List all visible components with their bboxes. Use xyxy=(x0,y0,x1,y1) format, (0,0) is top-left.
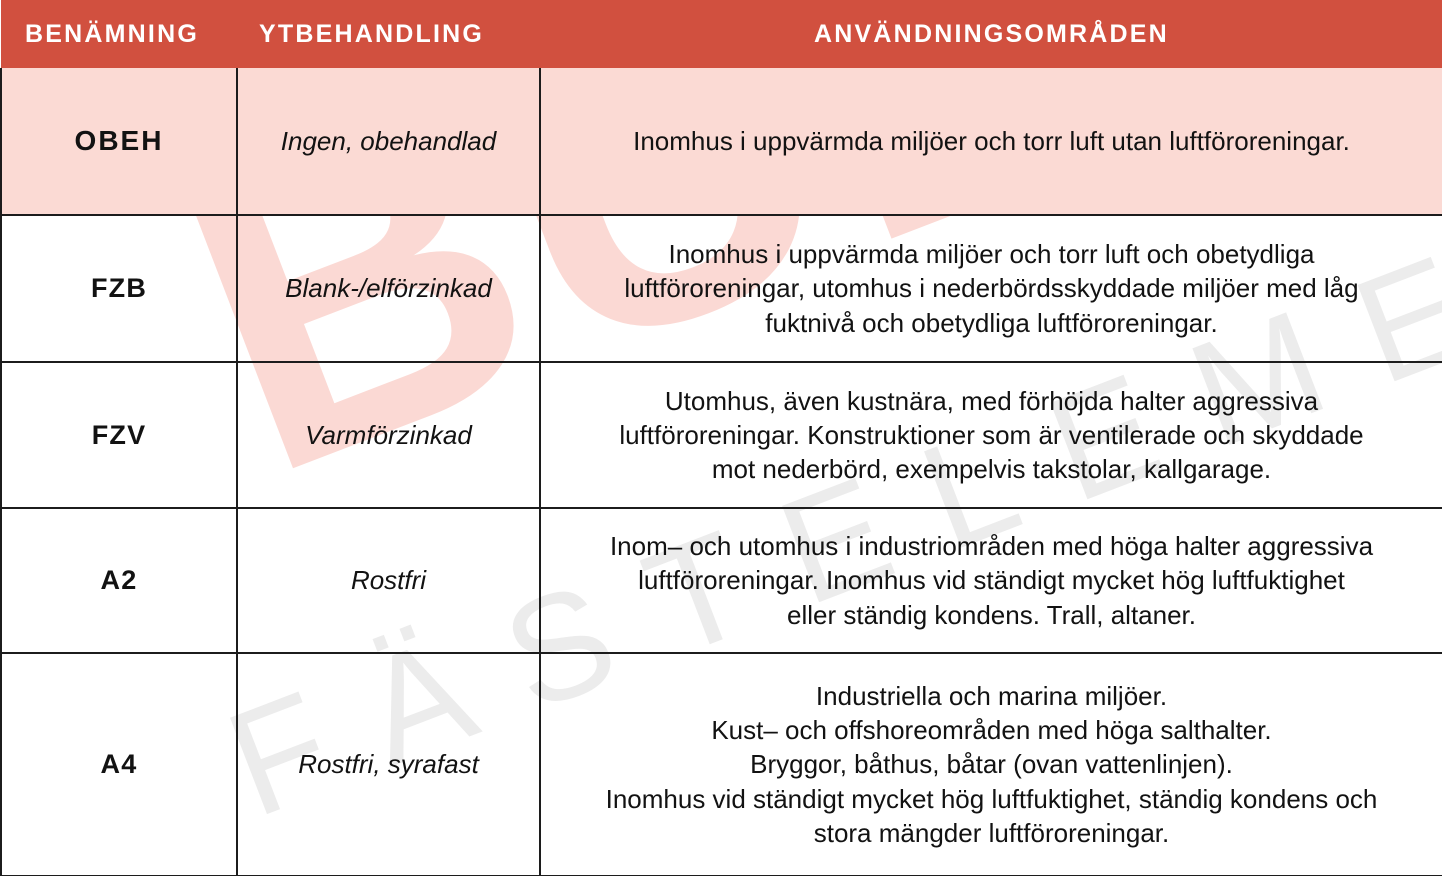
cell-applications: Inomhus i uppvärmda miljöer och torr luf… xyxy=(540,215,1442,362)
cell-designation: FZV xyxy=(1,362,237,508)
cell-applications: Inomhus i uppvärmda miljöer och torr luf… xyxy=(540,68,1442,215)
surface-treatment-table: BENÄMNING YTBEHANDLING ANVÄNDNINGSOMRÅDE… xyxy=(0,0,1442,876)
cell-designation: A2 xyxy=(1,508,237,653)
application-line: Inomhus i uppvärmda miljöer och torr luf… xyxy=(559,237,1424,271)
table-header: BENÄMNING YTBEHANDLING ANVÄNDNINGSOMRÅDE… xyxy=(1,0,1442,68)
cell-designation: A4 xyxy=(1,653,237,876)
cell-treatment: Blank-/elförzinkad xyxy=(237,215,540,362)
cell-applications: Industriella och marina miljöer. Kust– o… xyxy=(540,653,1442,876)
application-line: Bryggor, båthus, båtar (ovan vattenlinje… xyxy=(559,747,1424,781)
application-line: mot nederbörd, exempelvis takstolar, kal… xyxy=(559,452,1424,486)
cell-applications: Inom– och utomhus i industriområden med … xyxy=(540,508,1442,653)
application-line: eller ständig kondens. Trall, altaner. xyxy=(559,598,1424,632)
application-line: luftföroreningar. Inomhus vid ständigt m… xyxy=(559,563,1424,597)
application-line: luftföroreningar. Konstruktioner som är … xyxy=(559,418,1424,452)
application-line: stora mängder luftföroreningar. xyxy=(559,816,1424,850)
cell-treatment: Varmförzinkad xyxy=(237,362,540,508)
table-row: FZV Varmförzinkad Utomhus, även kustnära… xyxy=(1,362,1442,508)
application-line: Inomhus vid ständigt mycket hög luftfukt… xyxy=(559,782,1424,816)
application-line: Inom– och utomhus i industriområden med … xyxy=(559,529,1424,563)
table-header-row: BENÄMNING YTBEHANDLING ANVÄNDNINGSOMRÅDE… xyxy=(1,0,1442,68)
application-line: Kust– och offshoreområden med höga salth… xyxy=(559,713,1424,747)
cell-designation: FZB xyxy=(1,215,237,362)
application-line: luftföroreningar, utomhus i nederbördssk… xyxy=(559,271,1424,305)
cell-designation: OBEH xyxy=(1,68,237,215)
table-row: OBEH Ingen, obehandlad Inomhus i uppvärm… xyxy=(1,68,1442,215)
table-row: A2 Rostfri Inom– och utomhus i industrio… xyxy=(1,508,1442,653)
cell-applications: Utomhus, även kustnära, med förhöjda hal… xyxy=(540,362,1442,508)
application-line: fuktnivå och obetydliga luftföroreningar… xyxy=(559,306,1424,340)
column-header-anvandningsomraden: ANVÄNDNINGSOMRÅDEN xyxy=(540,0,1442,68)
column-header-benamning: BENÄMNING xyxy=(1,0,237,68)
table-body: OBEH Ingen, obehandlad Inomhus i uppvärm… xyxy=(1,68,1442,876)
cell-treatment: Rostfri, syrafast xyxy=(237,653,540,876)
cell-treatment: Ingen, obehandlad xyxy=(237,68,540,215)
application-line: Utomhus, även kustnära, med förhöjda hal… xyxy=(559,384,1424,418)
column-header-ytbehandling: YTBEHANDLING xyxy=(237,0,540,68)
table-row: A4 Rostfri, syrafast Industriella och ma… xyxy=(1,653,1442,876)
table-row: FZB Blank-/elförzinkad Inomhus i uppvärm… xyxy=(1,215,1442,362)
application-line: Inomhus i uppvärmda miljöer och torr luf… xyxy=(559,124,1424,158)
application-line: Industriella och marina miljöer. xyxy=(559,679,1424,713)
surface-treatment-table-page: BULTAB FÄSTELEMENT BENÄMNING YTBEHANDLIN… xyxy=(0,0,1442,876)
cell-treatment: Rostfri xyxy=(237,508,540,653)
